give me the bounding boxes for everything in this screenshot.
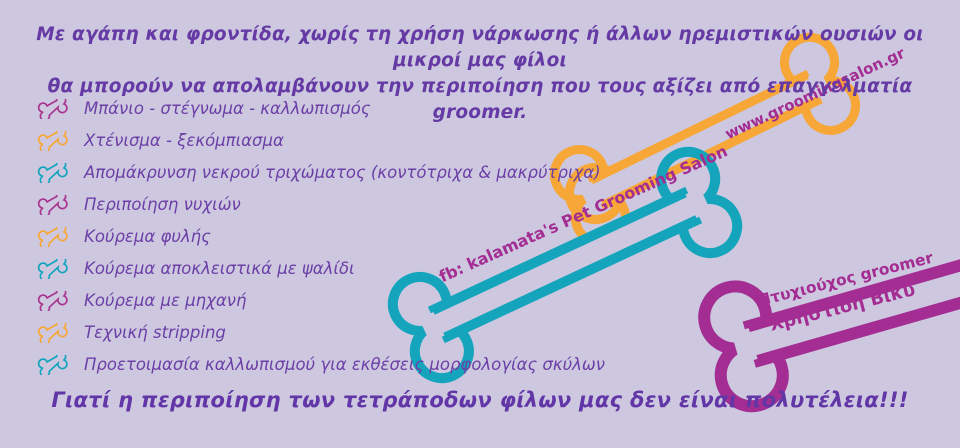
list-item-label: Κούρεμα φυλής (84, 228, 211, 246)
bone-icon (34, 99, 74, 119)
bone-icon (34, 259, 74, 279)
list-item: Τεχνική stripping (34, 317, 605, 349)
bone-icon (34, 131, 74, 151)
services-list: Μπάνιο - στέγνωμα - καλλωπισμός Χτένισμα… (34, 93, 605, 381)
bone-icon (34, 355, 74, 375)
bone-icon (34, 291, 74, 311)
headline-line-1: Με αγάπη και φροντίδα, χωρίς τη χρήση νά… (36, 24, 923, 71)
bone-icon (34, 195, 74, 215)
list-item: Προετοιμασία καλλωπισμού για εκθέσεις μο… (34, 349, 605, 381)
list-item: Κούρεμα με μηχανή (34, 285, 605, 317)
list-item: Κούρεμα φυλής (34, 221, 605, 253)
list-item: Απομάκρυνση νεκρού τριχώματος (κοντότριχ… (34, 157, 605, 189)
bone-icon (34, 323, 74, 343)
tagline: Γιατί η περιποίηση των τετράποδων φίλων … (0, 388, 960, 412)
list-item: Χτένισμα - ξεκόμπιασμα (34, 125, 605, 157)
list-item: Περιποίηση νυχιών (34, 189, 605, 221)
list-item: Μπάνιο - στέγνωμα - καλλωπισμός (34, 93, 605, 125)
list-item-label: Κούρεμα με μηχανή (84, 292, 246, 310)
list-item-label: Προετοιμασία καλλωπισμού για εκθέσεις μο… (84, 356, 605, 374)
list-item-label: Κούρεμα αποκλειστικά με ψαλίδι (84, 260, 355, 278)
bone-icon (34, 227, 74, 247)
list-item-label: Τεχνική stripping (84, 324, 226, 342)
poster-canvas: Με αγάπη και φροντίδα, χωρίς τη χρήση νά… (0, 0, 960, 448)
bone-icon (34, 163, 74, 183)
list-item-label: Χτένισμα - ξεκόμπιασμα (84, 132, 284, 150)
list-item-label: Μπάνιο - στέγνωμα - καλλωπισμός (84, 100, 371, 118)
list-item-label: Περιποίηση νυχιών (84, 196, 241, 214)
list-item-label: Απομάκρυνση νεκρού τριχώματος (κοντότριχ… (84, 164, 601, 182)
list-item: Κούρεμα αποκλειστικά με ψαλίδι (34, 253, 605, 285)
